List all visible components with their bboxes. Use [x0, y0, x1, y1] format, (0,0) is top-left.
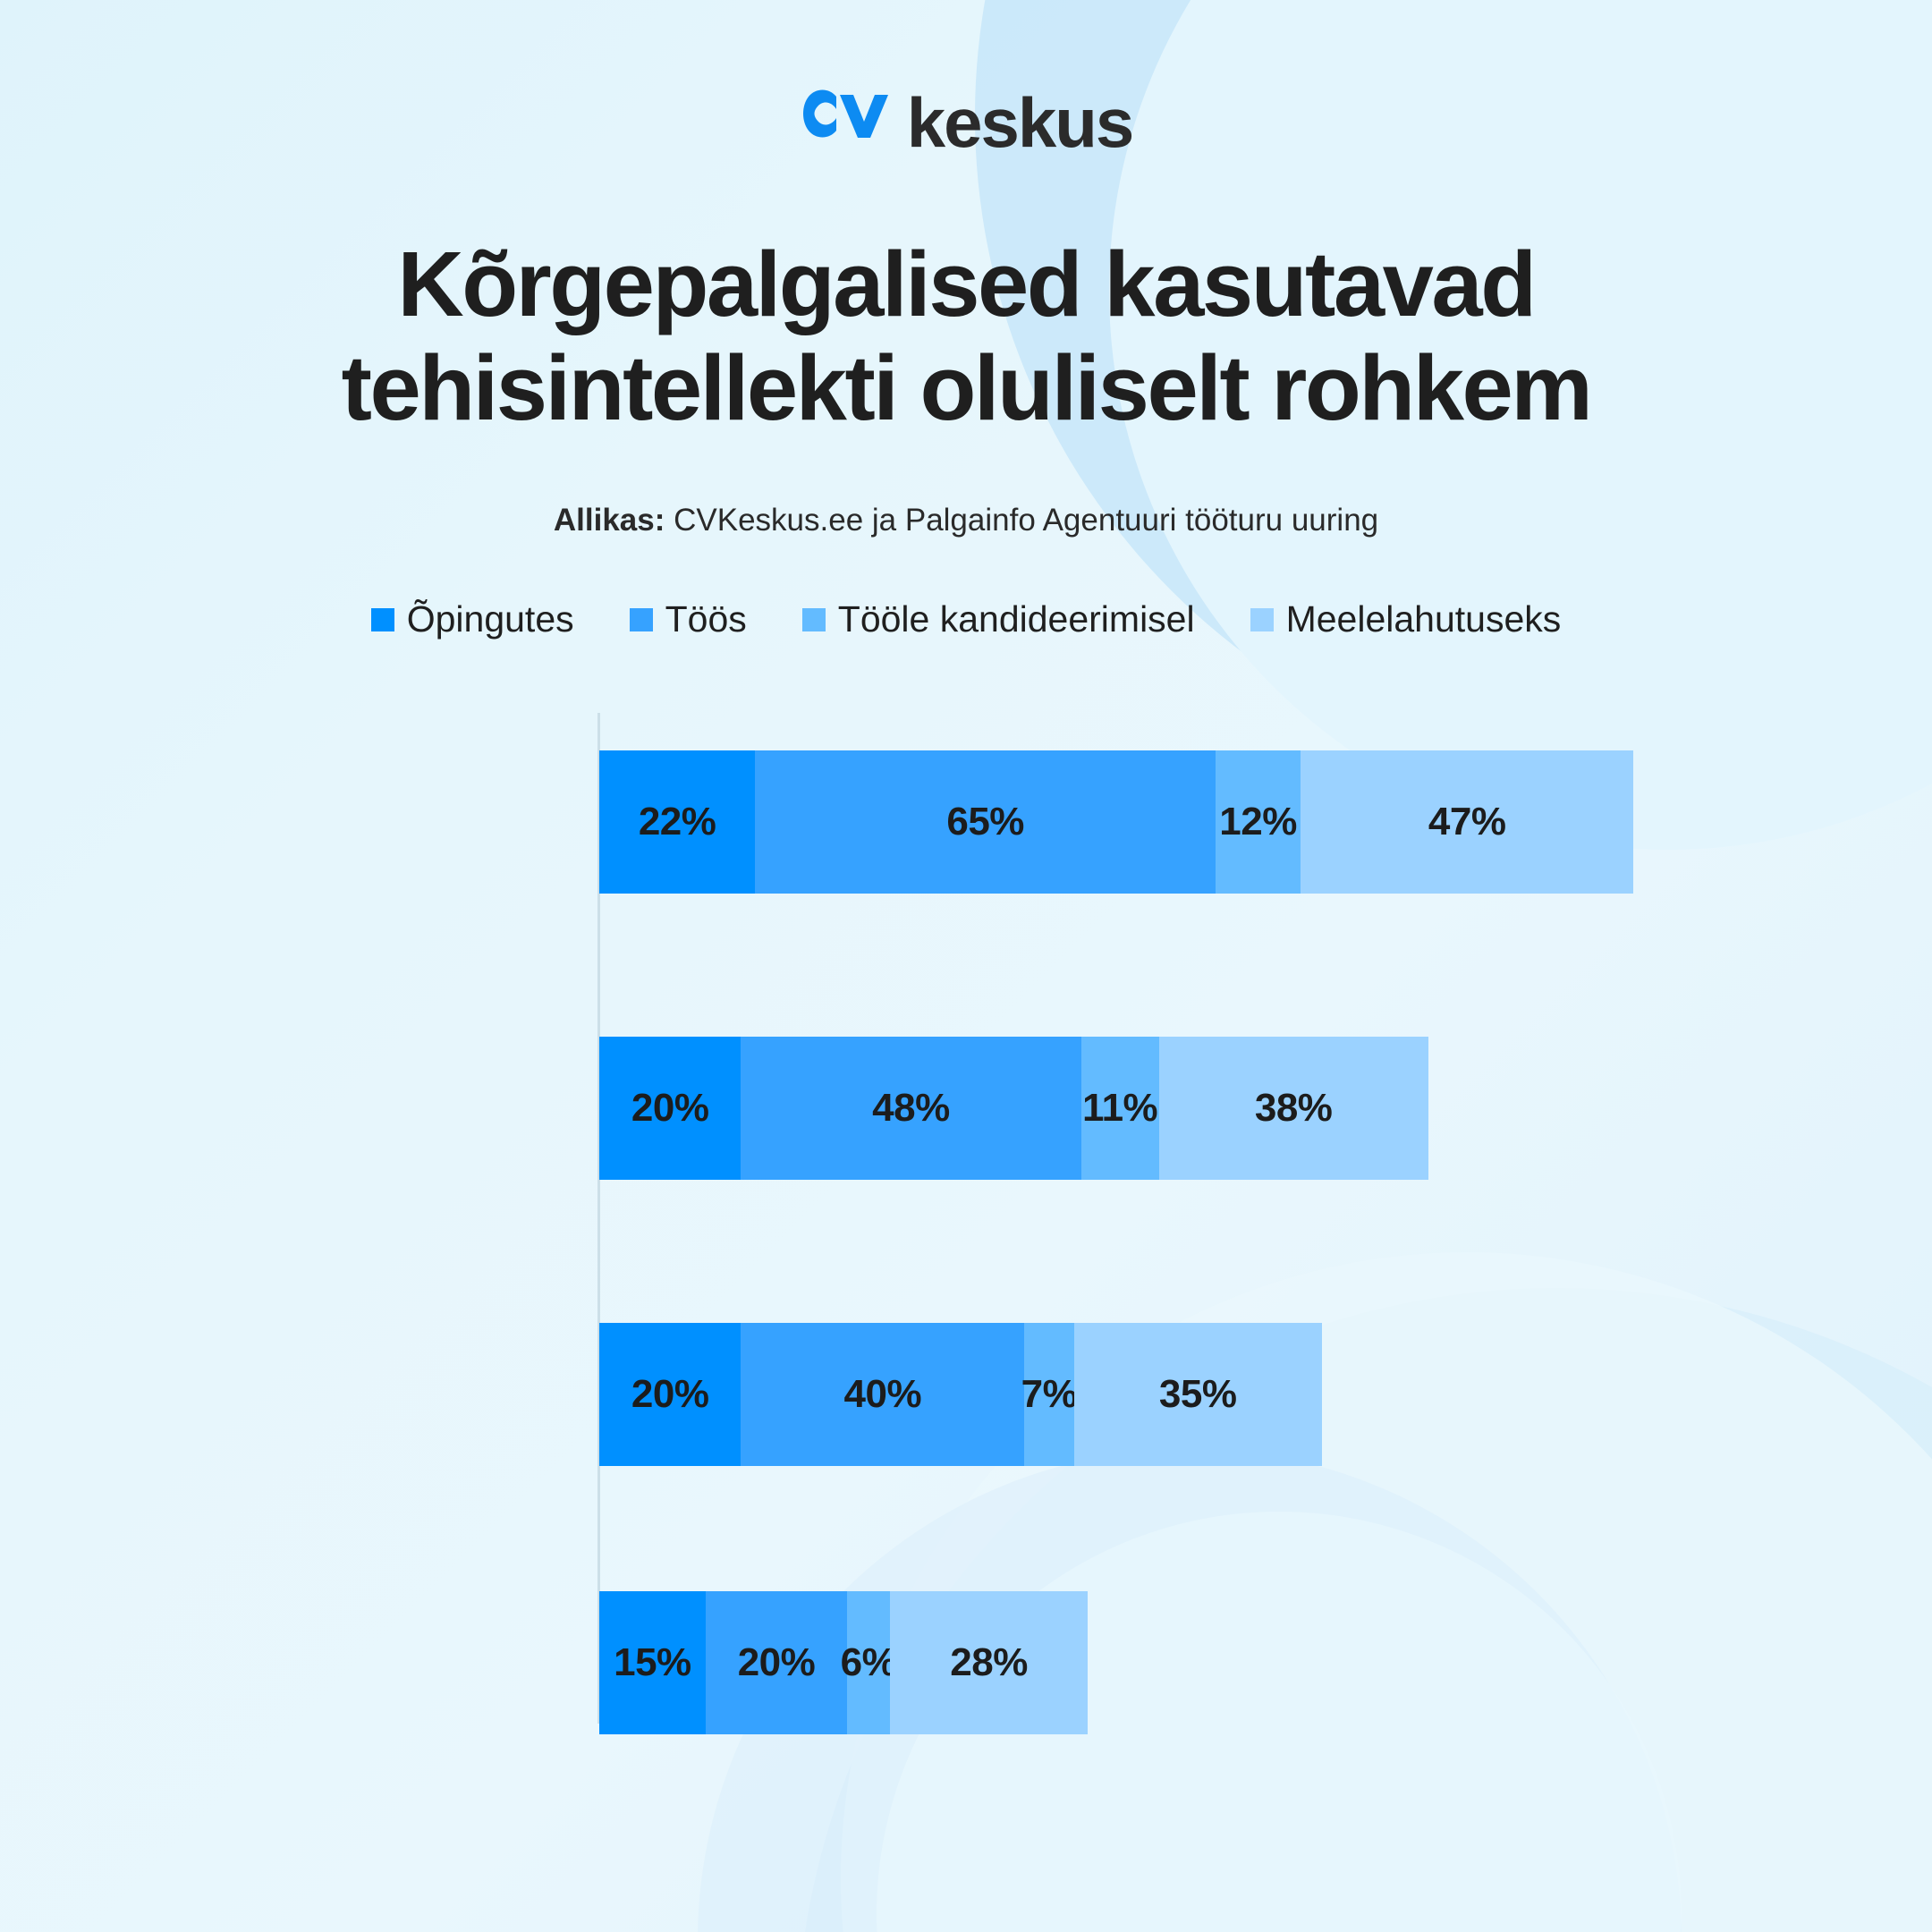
bar-segment[interactable]: 28% — [890, 1591, 1089, 1734]
bar-segment[interactable]: 11% — [1081, 1037, 1159, 1180]
bar-segment[interactable]: 15% — [599, 1591, 706, 1734]
bar-segment-value: 20% — [631, 1089, 709, 1128]
source-label: Allikas: — [554, 503, 665, 538]
bar-segment-value: 12% — [1219, 802, 1297, 842]
legend-swatch-icon — [371, 608, 394, 631]
legend-item-label: Tööle kandideerimisel — [838, 601, 1195, 638]
bar-segment-value: 6% — [841, 1643, 897, 1682]
bar-segment[interactable]: 6% — [847, 1591, 890, 1734]
logo-row: keskus — [0, 0, 1932, 163]
legend-item-label: Töös — [665, 601, 747, 638]
chart-legend: ÕpingutesTöösTööle kandideerimiselMeelel… — [0, 601, 1932, 638]
bar-track: 20%40%7%35% — [599, 1323, 1322, 1466]
bar-segment[interactable]: 47% — [1301, 750, 1633, 894]
bar-segment-value: 20% — [631, 1375, 709, 1414]
source-text: CVKeskus.ee ja Palgainfo Agentuuri töötu… — [674, 503, 1378, 538]
legend-swatch-icon — [1250, 608, 1274, 631]
source-line: Allikas: CVKeskus.ee ja Palgainfo Agentu… — [0, 500, 1932, 541]
legend-item-label: Meelelahutuseks — [1286, 601, 1562, 638]
bar-segment-value: 11% — [1082, 1089, 1157, 1128]
bar-segment[interactable]: 22% — [599, 750, 755, 894]
bar-segment-value: 47% — [1428, 802, 1506, 842]
bar-segment[interactable]: 7% — [1024, 1323, 1073, 1466]
bar-segment-value: 40% — [844, 1375, 922, 1414]
bar-segment[interactable]: 20% — [599, 1037, 741, 1180]
bar-segment-value: 38% — [1255, 1089, 1333, 1128]
bar-segment-value: 35% — [1159, 1375, 1237, 1414]
bar-segment-value: 7% — [1021, 1375, 1078, 1414]
bar-segment[interactable]: 35% — [1074, 1323, 1322, 1466]
bar-segment-value: 48% — [872, 1089, 950, 1128]
cvkeskus-logo: keskus — [800, 82, 1133, 163]
bar-segment[interactable]: 12% — [1216, 750, 1301, 894]
legend-swatch-icon — [630, 608, 653, 631]
bar-segment[interactable]: 65% — [755, 750, 1216, 894]
bar-track: 15%20%6%28% — [599, 1591, 1088, 1734]
bar-segment-value: 22% — [639, 802, 716, 842]
legend-item[interactable]: Tööle kandideerimisel — [802, 601, 1195, 638]
legend-swatch-icon — [802, 608, 826, 631]
bar-segment[interactable]: 38% — [1159, 1037, 1428, 1180]
bar-segment-value: 20% — [738, 1643, 816, 1682]
bar-segment[interactable]: 40% — [741, 1323, 1024, 1466]
bar-track: 20%48%11%38% — [599, 1037, 1428, 1180]
legend-item[interactable]: Õpingutes — [371, 601, 574, 638]
logo-wordmark: keskus — [907, 88, 1133, 157]
bar-segment[interactable]: 20% — [599, 1323, 741, 1466]
legend-item[interactable]: Töös — [630, 601, 747, 638]
legend-item-label: Õpingutes — [407, 601, 574, 638]
cv-monogram-icon — [800, 82, 905, 163]
bar-segment-value: 28% — [950, 1643, 1028, 1682]
bar-segment[interactable]: 20% — [706, 1591, 847, 1734]
stacked-bar-chart: 2800 ja rohkem eurot22%65%12%47%2085–279… — [0, 697, 1932, 1734]
infographic-canvas: keskus Kõrgepalgalised kasutavad tehisin… — [0, 0, 1932, 1932]
bar-segment-value: 15% — [614, 1643, 691, 1682]
page-title: Kõrgepalgalised kasutavad tehisintellekt… — [206, 233, 1726, 441]
bar-segment-value: 65% — [946, 802, 1024, 842]
bar-track: 22%65%12%47% — [599, 750, 1633, 894]
legend-item[interactable]: Meelelahutuseks — [1250, 601, 1562, 638]
infographic-content: keskus Kõrgepalgalised kasutavad tehisin… — [0, 0, 1932, 1734]
bar-segment[interactable]: 48% — [741, 1037, 1080, 1180]
